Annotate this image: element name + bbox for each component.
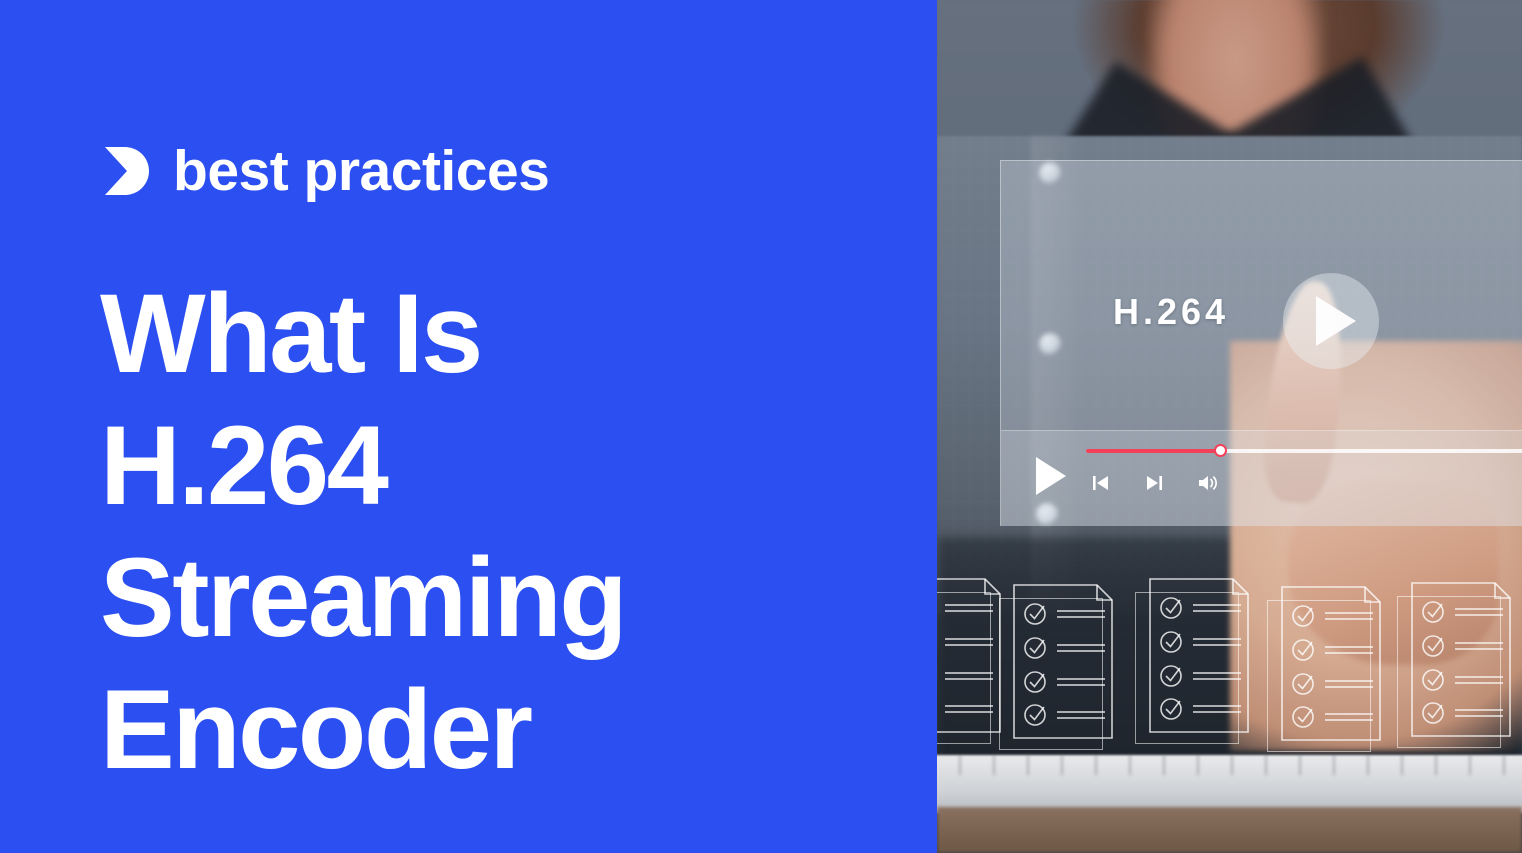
codec-label: H.264 [1113, 294, 1229, 330]
video-player-overlay[interactable]: H.264 [1000, 160, 1522, 526]
progress-fill [1086, 449, 1221, 453]
page-title: What Is H.264 Streaming Encoder [100, 268, 890, 797]
headline-line-4: Encoder [100, 664, 890, 796]
brand-chevron-icon [103, 145, 151, 197]
headline-line-3: Streaming [100, 532, 890, 664]
eyebrow-label: best practices [173, 143, 549, 200]
wooden-desk [937, 807, 1522, 853]
play-icon[interactable] [1036, 457, 1066, 495]
eyebrow-category: best practices [103, 136, 549, 206]
skip-next-icon[interactable] [1144, 473, 1164, 493]
progress-handle[interactable] [1214, 444, 1227, 457]
transport-controls [1091, 473, 1219, 493]
keyboard [937, 755, 1522, 813]
headline-line-1: What Is [100, 268, 890, 400]
progress-scrubber[interactable] [1086, 449, 1522, 453]
headline-line-2: H.264 [100, 400, 890, 532]
left-blue-panel: best practices What Is H.264 Streaming E… [0, 0, 937, 853]
promo-banner: best practices What Is H.264 Streaming E… [0, 0, 1522, 853]
skip-previous-icon[interactable] [1091, 473, 1111, 493]
volume-up-icon[interactable] [1197, 473, 1219, 493]
play-triangle-icon [1316, 296, 1356, 346]
player-controls-bar[interactable] [1001, 430, 1522, 526]
hero-photo: H.264 [937, 0, 1522, 853]
play-circle-icon[interactable] [1283, 273, 1379, 369]
